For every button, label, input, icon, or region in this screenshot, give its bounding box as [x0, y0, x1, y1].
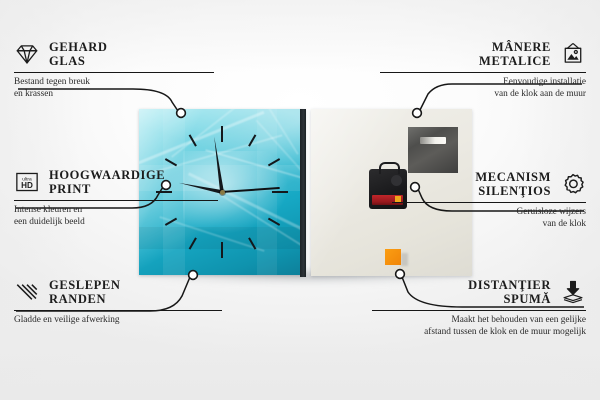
spacer-shadow	[401, 253, 408, 266]
clock-tick	[221, 126, 223, 142]
callout-subtitle: Maakt het behouden van een gelijke afsta…	[372, 315, 586, 338]
callout-metal-handles: MÂNERE METALICE Eenvoudige installatie v…	[380, 40, 586, 101]
diamond-icon	[14, 41, 40, 67]
callout-subtitle: Eenvoudige installatie van de klok aan d…	[380, 77, 586, 100]
callout-header: GEHARD GLAS	[14, 40, 214, 68]
callout-tempered-glass: GEHARD GLAS Bestand tegen breuk en krass…	[14, 40, 214, 101]
callout-title: HOOGWAARDIGE PRINT	[49, 168, 165, 196]
callout-foam-spacer: DISTANŢIER SPUMĂ Maakt het behouden van …	[372, 278, 586, 339]
callout-subtitle: Intense kleuren en een duidelijk beeld	[14, 205, 218, 228]
clock-tick	[221, 242, 223, 258]
callout-rule	[392, 202, 586, 203]
callout-rule	[14, 200, 218, 201]
callout-title: MECANISM SILENŢIOS	[475, 170, 551, 198]
ultra-hd-icon: ultra HD	[14, 169, 40, 195]
callout-rule	[372, 310, 586, 311]
callout-high-quality-print: ultra HD HOOGWAARDIGE PRINT Intense kleu…	[14, 168, 218, 229]
picture-frame-hanger-icon	[560, 41, 586, 67]
clock-tick	[272, 191, 288, 193]
callout-title: GEHARD GLAS	[49, 40, 107, 68]
callout-header: MECANISM SILENŢIOS	[392, 170, 586, 198]
foam-spacer	[385, 249, 401, 265]
callout-rule	[380, 72, 586, 73]
callout-header: DISTANŢIER SPUMĂ	[372, 278, 586, 306]
gear-icon	[560, 171, 586, 197]
callout-header: GESLEPEN RANDEN	[14, 278, 222, 306]
metal-hanger-plate	[408, 127, 458, 173]
callout-rule	[14, 310, 222, 311]
clock-side-edge	[300, 109, 306, 277]
hanger-slot	[420, 137, 446, 144]
callout-polished-edges: GESLEPEN RANDEN Gladde en veilige afwerk…	[14, 278, 222, 327]
callout-subtitle: Gladde en veilige afwerking	[14, 315, 222, 327]
callout-title: MÂNERE METALICE	[479, 40, 551, 68]
callout-title: DISTANŢIER SPUMĂ	[468, 278, 551, 306]
clock-center-pin	[220, 190, 225, 195]
callout-header: ultra HD HOOGWAARDIGE PRINT	[14, 168, 218, 196]
diagonal-lines-icon	[14, 279, 40, 305]
callout-title: GESLEPEN RANDEN	[49, 278, 121, 306]
infographic-canvas: GEHARD GLAS Bestand tegen breuk en krass…	[0, 0, 600, 400]
callout-rule	[14, 72, 214, 73]
callout-subtitle: Geruisloze wijzers van de klok	[392, 207, 586, 230]
callout-silent-mechanism: MECANISM SILENŢIOS Geruisloze wijzers va…	[392, 170, 586, 231]
arrow-down-layers-icon	[560, 279, 586, 305]
svg-text:HD: HD	[21, 181, 33, 190]
callout-header: MÂNERE METALICE	[380, 40, 586, 68]
callout-subtitle: Bestand tegen breuk en krassen	[14, 77, 214, 100]
